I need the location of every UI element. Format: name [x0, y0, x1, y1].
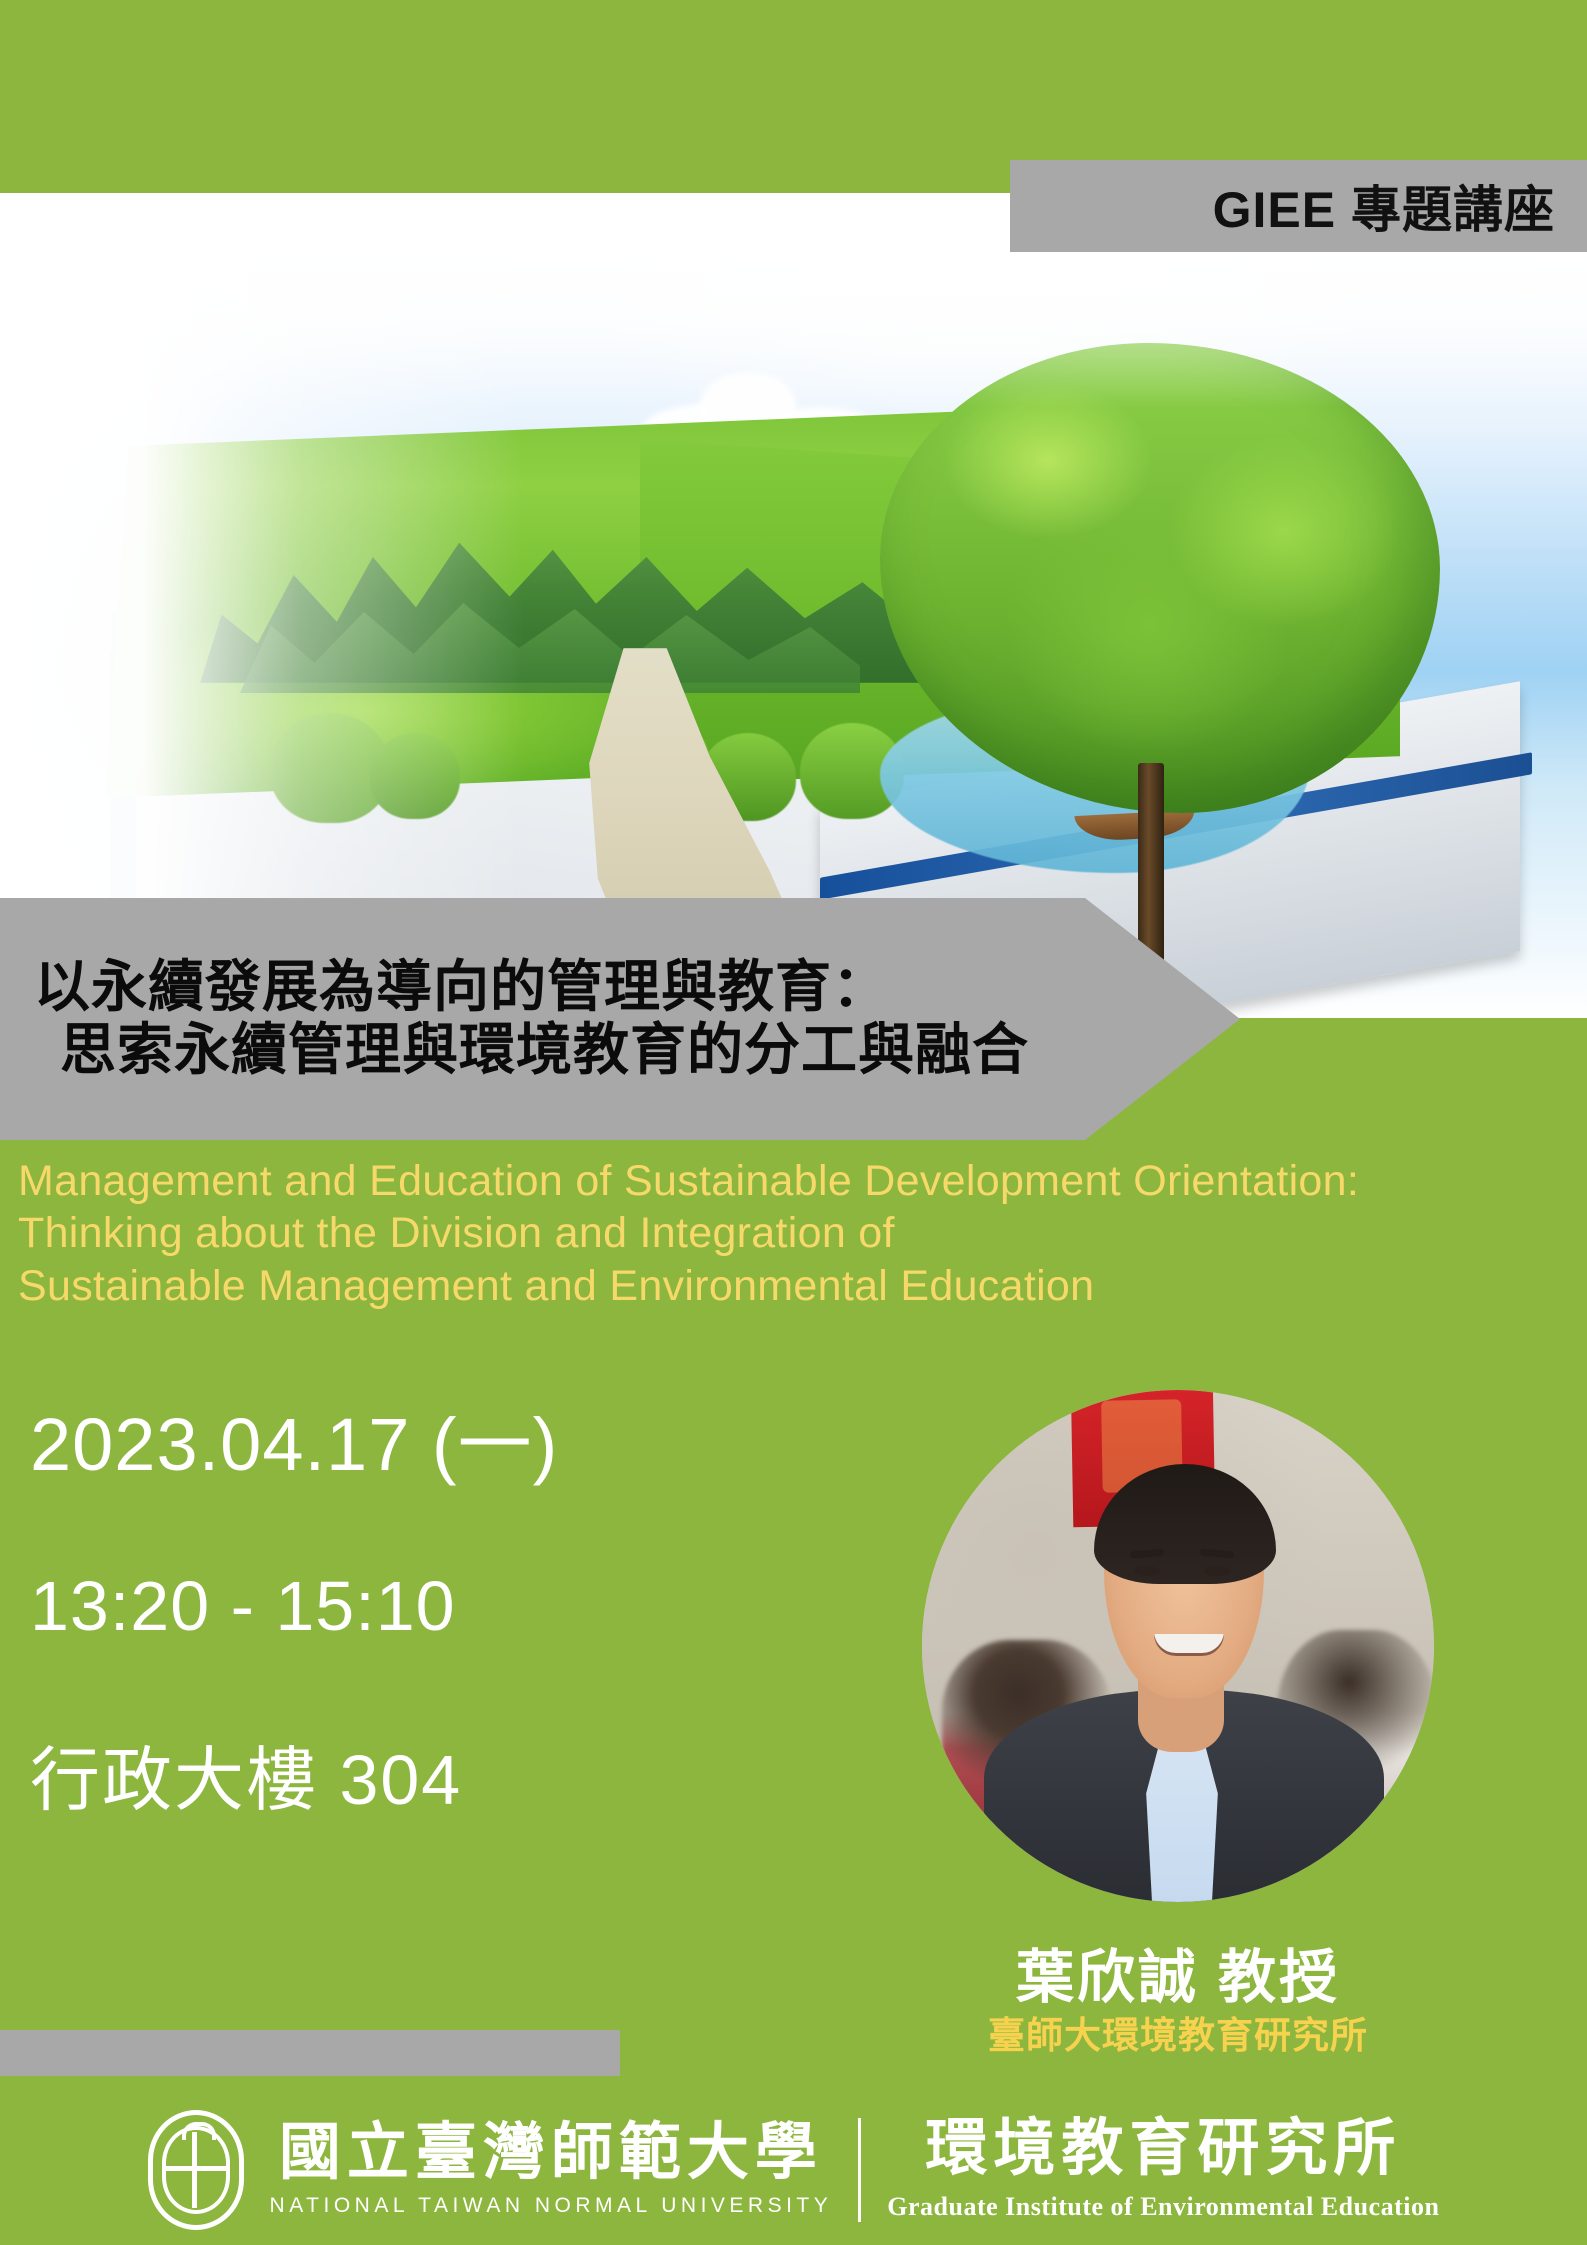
emblem-bar-vertical — [192, 2132, 197, 2208]
tree-canopy — [880, 343, 1440, 813]
giee-series-badge: GIEE 專題講座 — [1010, 160, 1587, 252]
event-details: 2023.04.17 (一) 13:20 - 15:10 行政大樓 304 — [30, 1385, 558, 1825]
small-tree-icon — [370, 733, 460, 819]
footer-logo-lockup: 國立臺灣師範大學 NATIONAL TAIWAN NORMAL UNIVERSI… — [0, 2095, 1587, 2245]
tree-trunk — [1138, 763, 1164, 963]
subtitle-line-2: Thinking about the Division and Integrat… — [18, 1207, 1468, 1259]
large-tree-illustration — [880, 343, 1440, 923]
institute-name-cn: 環境教育研究所 — [925, 2118, 1401, 2180]
subtitle-line-3: Sustainable Management and Environmental… — [18, 1260, 1468, 1312]
speaker-affiliation: 臺師大環境教育研究所 — [922, 2005, 1434, 2059]
university-name-cn: 國立臺灣師範大學 — [279, 2122, 823, 2184]
gray-accent-bar — [0, 2030, 620, 2076]
footer-divider — [858, 2118, 861, 2222]
speaker-mouth — [1154, 1634, 1224, 1656]
event-date: 2023.04.17 (一) — [30, 1385, 558, 1492]
event-venue: 行政大樓 304 — [30, 1724, 558, 1825]
speaker-eye-left — [1134, 1566, 1160, 1576]
title-banner: 以永續發展為導向的管理與教育： 思索永續管理與環境教育的分工與融合 — [0, 898, 1240, 1140]
english-subtitle: Management and Education of Sustainable … — [18, 1155, 1468, 1312]
title-line-1: 以永續發展為導向的管理與教育： — [34, 956, 1240, 1019]
speaker-eye-right — [1204, 1566, 1230, 1576]
institute-name-en: Graduate Institute of Environmental Educ… — [887, 2192, 1439, 2222]
speaker-name: 葉欣誠 教授 — [922, 1930, 1434, 2014]
university-name-en: NATIONAL TAIWAN NORMAL UNIVERSITY — [270, 2194, 833, 2218]
speaker-portrait — [922, 1390, 1434, 1902]
event-time: 13:20 - 15:10 — [30, 1566, 558, 1646]
title-line-2: 思索永續管理與環境教育的分工與融合 — [34, 1019, 1240, 1082]
ntnu-emblem-icon — [148, 2110, 244, 2230]
giee-series-label: GIEE 專題講座 — [1213, 170, 1555, 242]
poster-root: GIEE 專題講座 以永續發展為導向的管理與教育： 思索永續管理與環境教育的分工… — [0, 0, 1587, 2245]
hero-image — [0, 193, 1587, 1018]
emblem-cap — [182, 2122, 216, 2140]
institute-name-block: 環境教育研究所 Graduate Institute of Environmen… — [887, 2118, 1439, 2222]
university-name-block: 國立臺灣師範大學 NATIONAL TAIWAN NORMAL UNIVERSI… — [270, 2122, 833, 2218]
subtitle-line-1: Management and Education of Sustainable … — [18, 1155, 1468, 1207]
